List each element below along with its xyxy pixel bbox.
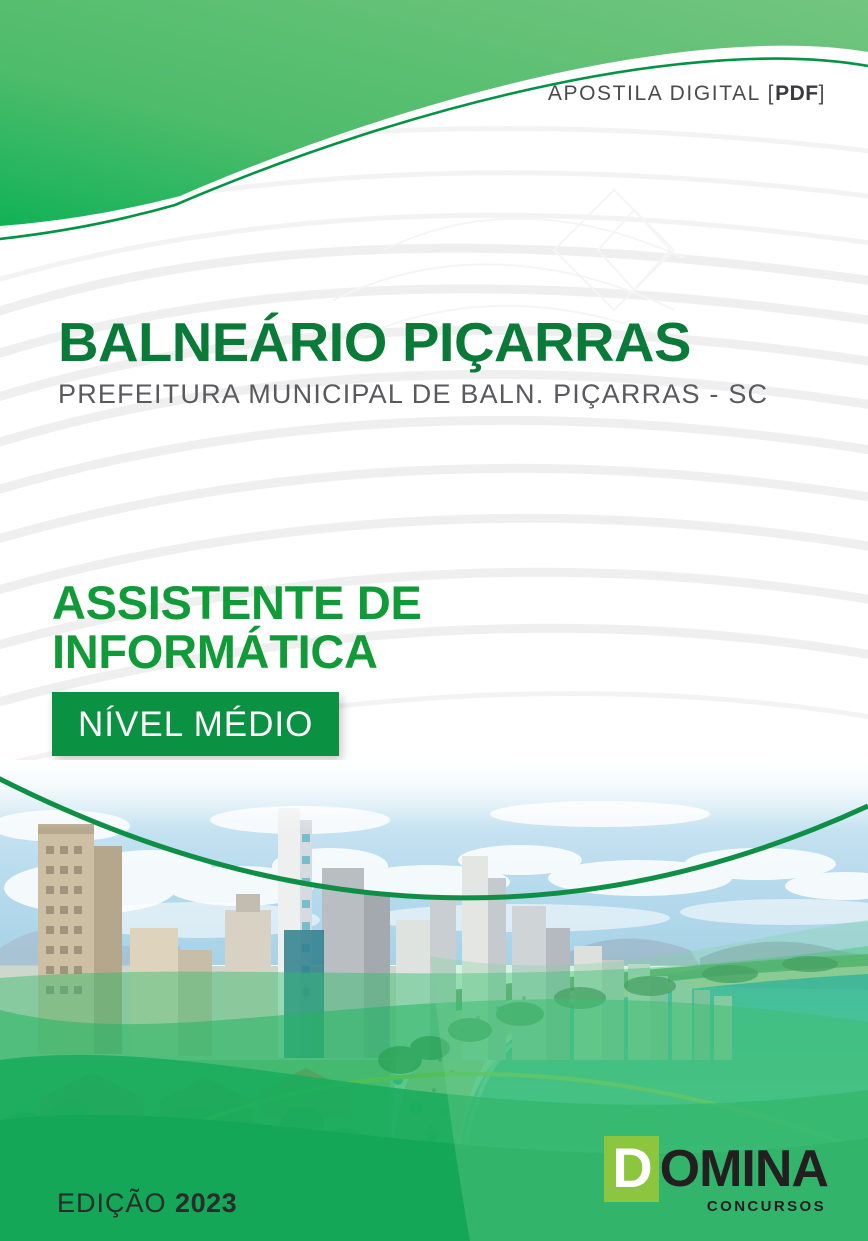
domina-concursos-logo: D OMINA CONCURSOS (604, 1136, 828, 1215)
logo-tagline: CONCURSOS (707, 1198, 826, 1215)
edition-year: 2023 (175, 1188, 237, 1218)
level-badge: NÍVEL MÉDIO (52, 692, 339, 756)
apostila-bracket-close: ] (819, 82, 826, 105)
logo-wordmark: OMINA (660, 1143, 828, 1195)
apostila-text: APOSTILA DIGITAL [ (548, 82, 775, 105)
photo-top-fade (0, 760, 868, 830)
logo-wordmark-row: D OMINA (604, 1136, 828, 1202)
pdf-badge-text: PDF (775, 82, 819, 105)
position-title-line1: ASSISTENTE DE (52, 578, 672, 627)
position-title-line2: INFORMÁTICA (52, 627, 672, 676)
apostila-cover: APOSTILA DIGITAL [PDF] BALNEÁRIO PIÇARRA… (0, 0, 868, 1241)
title-block: BALNEÁRIO PIÇARRAS PREFEITURA MUNICIPAL … (58, 312, 848, 410)
edition-label: EDIÇÃO 2023 (57, 1188, 237, 1219)
city-title: BALNEÁRIO PIÇARRAS (58, 312, 864, 372)
entity-subtitle: PREFEITURA MUNICIPAL DE BALN. PIÇARRAS -… (58, 378, 848, 410)
position-block: ASSISTENTE DE INFORMÁTICA NÍVEL MÉDIO (52, 578, 672, 756)
header-green-wave (0, 0, 868, 300)
apostila-digital-label: APOSTILA DIGITAL [PDF] (548, 82, 826, 106)
logo-initial-d: D (604, 1136, 658, 1202)
edition-word: EDIÇÃO (57, 1188, 167, 1218)
